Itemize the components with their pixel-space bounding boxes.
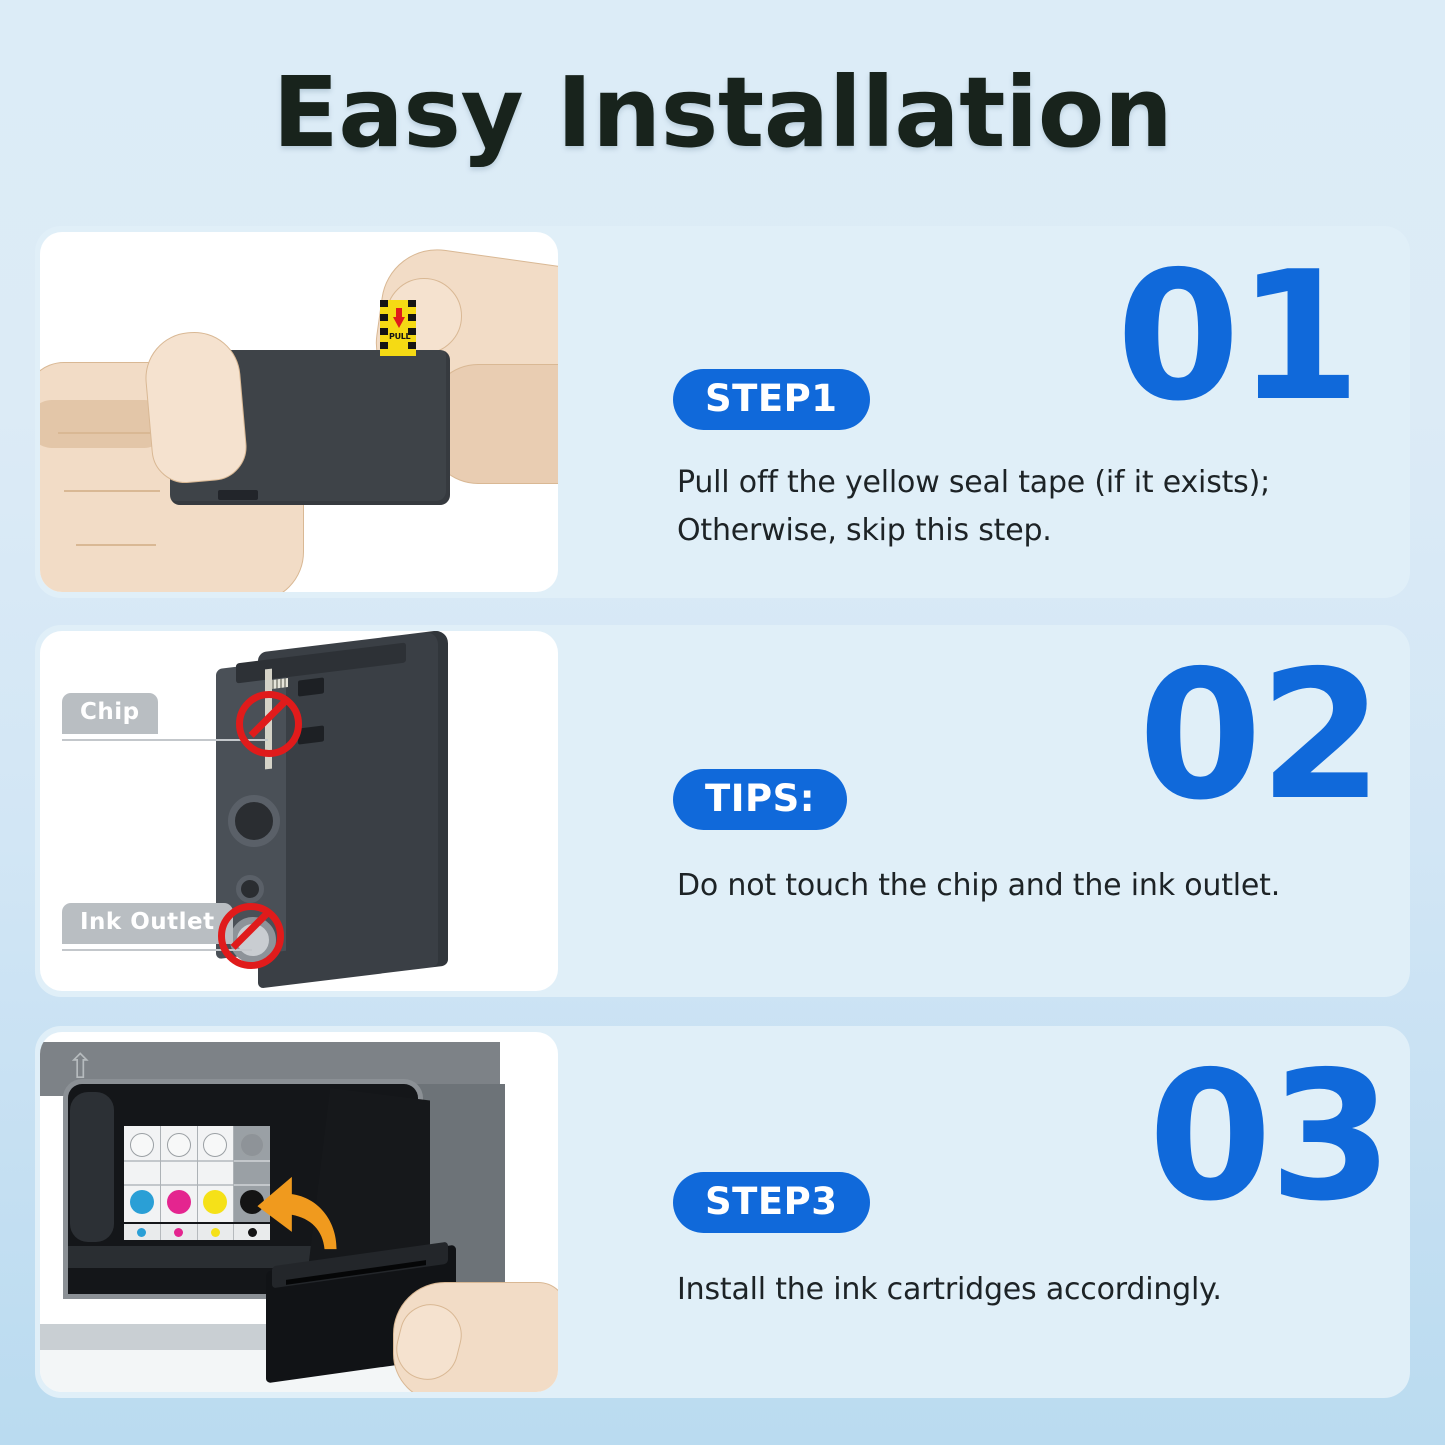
slot-ring [203,1133,227,1157]
down-arrow-icon [393,317,405,328]
step-2-number: 02 [1138,647,1380,825]
page-title: Easy Installation [0,62,1445,164]
step-1-badge[interactable]: STEP1 [673,369,870,430]
strip-cell [198,1224,235,1240]
cartridge-tab [298,725,324,744]
cartridge-vent-large [228,795,280,847]
strip-dot-cyan [137,1228,146,1237]
slot-color-dot-cyan [130,1190,154,1214]
hand-crease [76,544,156,546]
slot-color-strip [124,1224,270,1240]
cartridge-vent-small [236,875,264,903]
no-touch-outlet-icon [218,903,284,969]
pull-tab-label: PULL [389,332,410,341]
pull-tab-icon: PULL [380,300,416,356]
step-3-description: Install the ink cartridges accordingly. [677,1266,1317,1314]
step-row-2: Chip Ink Outlet TIPS: Do not touch the c… [35,625,1410,997]
slot-divider [124,1160,160,1162]
tab-stripe-left [380,300,388,356]
tab-stripe-right [408,300,416,356]
slot-cyan [124,1126,161,1222]
step-row-3: ⇧ [35,1026,1410,1398]
step-1-content: STEP1 Pull off the yellow seal tape (if … [637,226,1177,598]
step-2-illustration-panel: Chip Ink Outlet [40,631,558,991]
step-3-number: 03 [1148,1048,1390,1226]
step-1-description: Pull off the yellow seal tape (if it exi… [677,459,1317,555]
step-1-number: 01 [1116,248,1358,426]
hand-crease [64,490,160,492]
slot-divider [198,1160,234,1162]
step-3-content: STEP3 Install the ink cartridges accordi… [637,1026,1177,1398]
insert-direction-arrow-icon [254,1170,340,1256]
slot-divider [161,1160,197,1162]
slot-color-dot-magenta [167,1190,191,1214]
cartridge-base-slot [218,490,258,500]
down-arrow-stem [396,308,402,317]
slot-ring [240,1133,264,1157]
strip-cell [161,1224,198,1240]
slot-yellow [198,1126,235,1222]
cartridge-slot-row [124,1126,270,1222]
slot-divider [234,1160,270,1162]
slot-divider [124,1184,160,1186]
chip-leader-line [62,739,268,741]
step-3-badge[interactable]: STEP3 [673,1172,870,1233]
slot-color-dot-yellow [203,1190,227,1214]
ink-outlet-label: Ink Outlet [62,903,233,944]
strip-cell [124,1224,161,1240]
step-2-badge[interactable]: TIPS: [673,769,847,830]
cartridge-tab [298,677,324,696]
slot-divider [161,1184,197,1186]
no-touch-chip-icon [236,691,302,757]
step-3-illustration-panel: ⇧ [40,1032,558,1392]
step-2-description: Do not touch the chip and the ink outlet… [677,862,1317,910]
step-row-1: PULL STEP1 Pull off the yellow seal tape… [35,226,1410,598]
strip-dot-magenta [174,1228,183,1237]
step-2-content: TIPS: Do not touch the chip and the ink … [637,625,1177,997]
up-arrow-icon: ⇧ [66,1050,95,1084]
printer-cavity-gloss [70,1092,114,1242]
slot-ring [130,1133,154,1157]
slot-divider [198,1184,234,1186]
step-1-illustration-panel: PULL [40,232,558,592]
chip-label: Chip [62,693,158,734]
slot-magenta [161,1126,198,1222]
slot-ring [167,1133,191,1157]
strip-dot-yellow [211,1228,220,1237]
